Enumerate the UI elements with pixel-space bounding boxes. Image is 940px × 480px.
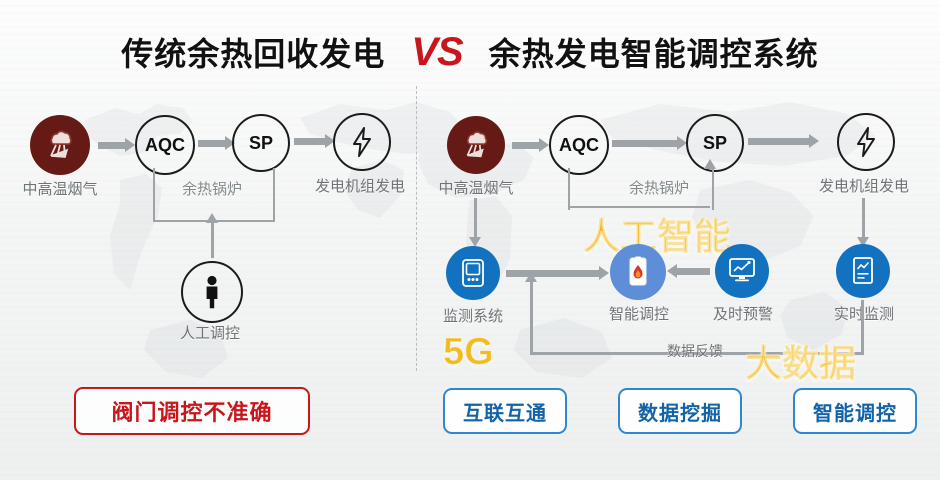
right-smart-control-node (610, 244, 666, 300)
header: 传统余热回收发电 VS 余热发电智能调控系统 (0, 22, 940, 82)
left-aqc-node: AQC (135, 115, 195, 175)
right-tag-label-1: 数据挖掘 (638, 397, 722, 426)
right-monitor-system-node (446, 246, 500, 300)
right-aqc-label: AQC (559, 135, 599, 156)
desktop-chart-icon (727, 257, 757, 285)
left-arrow-smoke-aqc (98, 142, 126, 149)
left-sp-label: SP (249, 133, 273, 154)
left-arrow-sp-gen (294, 138, 326, 145)
right-arrow-sp-gen (748, 138, 810, 145)
left-sp-node: SP (232, 114, 290, 172)
right-smart-control-label: 智能调控 (594, 303, 684, 324)
right-arrow-smoke-down (474, 198, 477, 238)
document-chart-icon (850, 256, 876, 286)
tablet-flame-icon (625, 256, 651, 288)
left-panel-title: 传统余热回收发电 (121, 29, 385, 75)
lightning-bolt-icon (348, 126, 376, 158)
right-tag-box-0: 互联互通 (443, 388, 567, 434)
lightning-bolt-icon (852, 126, 880, 158)
left-boiler-label: 余热锅炉 (153, 178, 271, 199)
left-conclusion-text: 阀门调控不准确 (111, 395, 272, 427)
right-smoke-label: 中高温烟气 (424, 177, 528, 198)
left-conclusion-box: 阀门调控不准确 (74, 387, 310, 435)
feedback-line-vertical-right (861, 300, 864, 354)
right-monitor-system-label: 监测系统 (420, 305, 526, 326)
left-smoke-node (30, 115, 90, 175)
right-arrow-aqc-sp (612, 140, 678, 147)
person-icon (200, 275, 224, 309)
right-aqc-node: AQC (549, 115, 609, 175)
right-arrow-monitor-smart (506, 270, 600, 277)
left-manual-node (181, 261, 243, 323)
right-timely-alert-node (715, 244, 769, 298)
right-tag-box-2: 智能调控 (793, 388, 917, 434)
right-panel-title: 余热发电智能调控系统 (489, 29, 819, 75)
right-generator-label: 发电机组发电 (796, 175, 932, 196)
right-tag-box-1: 数据挖掘 (618, 388, 742, 434)
left-arrow-aqc-sp (198, 140, 226, 147)
right-boiler-label: 余热锅炉 (600, 177, 718, 198)
right-smoke-node (447, 116, 505, 174)
left-generator-label: 发电机组发电 (292, 175, 428, 196)
right-realtime-monitor-label: 实时监测 (818, 303, 910, 324)
right-timely-alert-label: 及时预警 (698, 303, 788, 324)
right-generator-node (837, 113, 895, 171)
right-realtime-monitor-node (836, 244, 890, 298)
left-smoke-label: 中高温烟气 (8, 178, 112, 199)
infographic-canvas: 传统余热回收发电 VS 余热发电智能调控系统 中高温烟气 AQC SP 发电机组 (0, 0, 940, 480)
right-tag-label-2: 智能调控 (813, 397, 897, 426)
accent-5g-text: 5G (443, 331, 494, 374)
right-arrow-alert-smart (676, 268, 710, 275)
panel-divider (416, 86, 417, 371)
right-arrow-gen-down (862, 198, 865, 238)
device-monitor-icon (460, 258, 486, 288)
feedback-label: 数据反馈 (650, 341, 740, 361)
smoke-plume-icon (457, 126, 495, 164)
right-tag-label-0: 互联互通 (463, 397, 547, 426)
left-generator-node (333, 113, 391, 171)
left-aqc-label: AQC (145, 135, 185, 156)
left-arrow-manual-up (211, 222, 214, 258)
right-arrow-smoke-aqc (512, 142, 540, 149)
right-sp-label: SP (703, 133, 727, 154)
accent-bigdata-text: 大数据 (745, 333, 856, 387)
feedback-arrow-up (530, 281, 533, 353)
smoke-plume-icon (40, 125, 80, 165)
left-manual-label: 人工调控 (152, 322, 268, 343)
vs-label: VS (411, 30, 462, 75)
